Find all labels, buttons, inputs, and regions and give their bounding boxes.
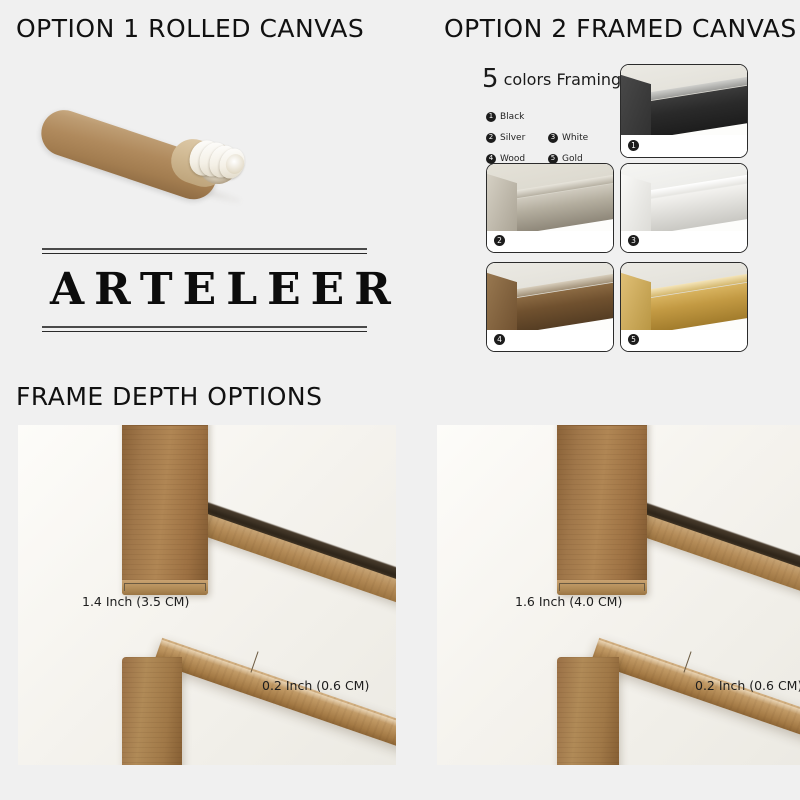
depth-dimension-label: 1.4 Inch (3.5 CM) — [82, 594, 189, 609]
legend-row: 2 Silver 3 White — [486, 129, 616, 146]
frame-depth-photo-standard: 1.4 Inch (3.5 CM) 0.2 Inch (0.6 CM) — [18, 425, 396, 765]
badge-number-icon: 2 — [486, 133, 496, 143]
swatch-number-badge: 2 — [494, 235, 505, 246]
frame-depth-heading: FRAME DEPTH OPTIONS — [16, 382, 322, 411]
legend-item-wood: 4 Wood — [486, 154, 548, 164]
edge-dimension-label: 0.2 Inch (0.6 CM) — [262, 678, 369, 693]
legend-item-black: 1 Black — [486, 112, 548, 122]
legend-label: Black — [500, 112, 524, 122]
legend-row: 1 Black — [486, 108, 616, 125]
logo-rule-bottom — [42, 326, 367, 332]
brand-name: ARTELEER — [42, 254, 367, 326]
swatch-number-badge: 4 — [494, 334, 505, 345]
frame-swatch-silver[interactable]: 2 — [486, 163, 614, 253]
legend-label: Gold — [562, 154, 583, 164]
legend-item-silver: 2 Silver — [486, 133, 548, 143]
frame-vertical-stile — [557, 425, 647, 595]
frame-swatch-black[interactable]: 1 — [620, 64, 748, 158]
framing-colors-title: 5 colors Framing — [482, 64, 621, 94]
frame-color-legend: 1 Black 2 Silver 3 White 4 Wood 5 Gold — [486, 108, 616, 171]
swatch-number-badge: 5 — [628, 334, 639, 345]
option2-heading: OPTION 2 FRAMED CANVAS — [444, 14, 797, 43]
badge-number-icon: 3 — [548, 133, 558, 143]
rolled-canvas-tube-icon — [40, 68, 270, 193]
depth-dimension-bracket — [124, 583, 206, 591]
swatch-number-badge: 1 — [628, 140, 639, 151]
badge-number-icon: 1 — [486, 112, 496, 122]
legend-label: White — [562, 133, 588, 143]
legend-item-white: 3 White — [548, 133, 610, 143]
badge-number-icon: 4 — [486, 154, 496, 164]
depth-dimension-label: 1.6 Inch (4.0 CM) — [515, 594, 622, 609]
frame-swatch-white[interactable]: 3 — [620, 163, 748, 253]
frame-swatch-wood[interactable]: 4 — [486, 262, 614, 352]
swatch-number-badge: 3 — [628, 235, 639, 246]
edge-dimension-label: 0.2 Inch (0.6 CM) — [695, 678, 800, 693]
swatch-photo — [621, 263, 747, 351]
swatch-photo — [621, 164, 747, 252]
swatch-photo — [487, 164, 613, 252]
framing-count: 5 — [482, 64, 499, 94]
infographic-canvas: OPTION 1 ROLLED CANVAS ARTELEER OPTION 2… — [0, 0, 800, 800]
frame-lower-post — [122, 657, 182, 765]
depth-dimension-bracket — [559, 583, 645, 591]
brand-logo-block: ARTELEER — [42, 248, 367, 332]
frame-lower-post — [557, 657, 619, 765]
badge-number-icon: 5 — [548, 154, 558, 164]
legend-item-gold: 5 Gold — [548, 154, 610, 164]
legend-label: Silver — [500, 133, 525, 143]
frame-depth-photo-deep: 1.6 Inch (4.0 CM) 0.2 Inch (0.6 CM) — [437, 425, 800, 765]
legend-label: Wood — [500, 154, 525, 164]
swatch-photo — [487, 263, 613, 351]
framing-title-text: colors Framing — [499, 70, 622, 89]
frame-vertical-stile — [122, 425, 208, 595]
option1-heading: OPTION 1 ROLLED CANVAS — [16, 14, 364, 43]
frame-swatch-gold[interactable]: 5 — [620, 262, 748, 352]
swatch-photo — [621, 65, 747, 157]
